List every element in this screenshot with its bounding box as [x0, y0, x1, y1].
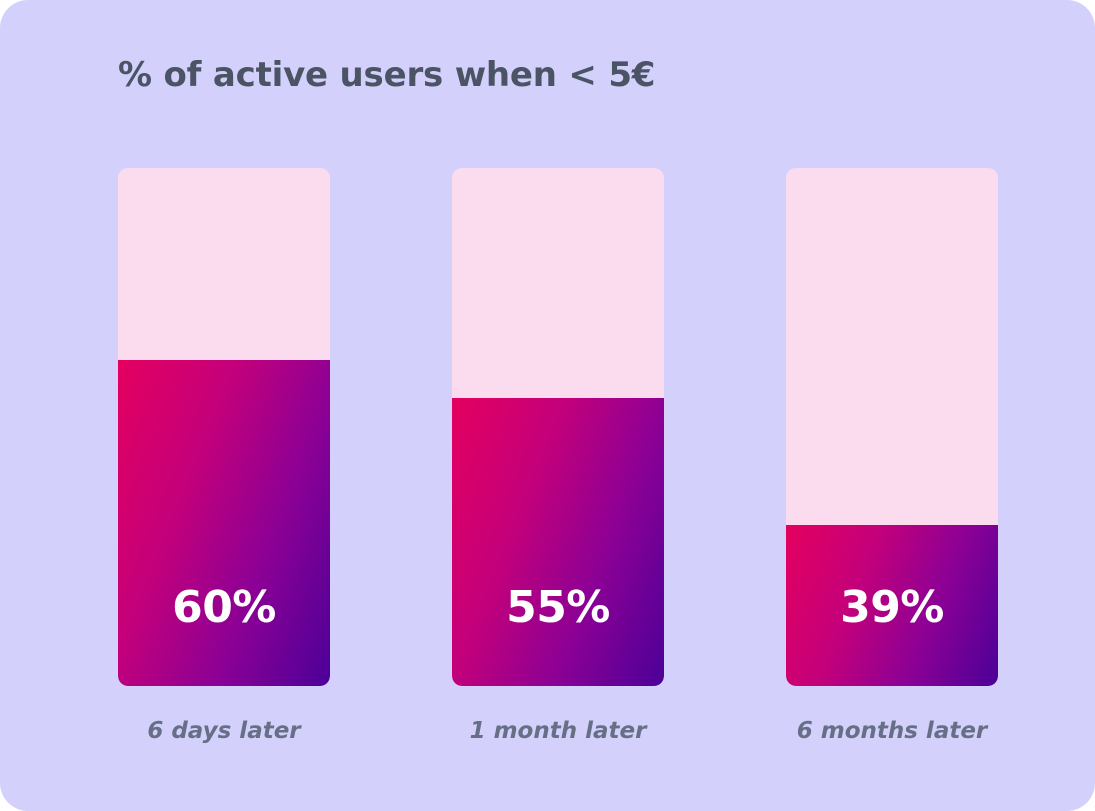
- bar-fill[interactable]: 60%: [118, 360, 330, 686]
- bar-value-label: 60%: [118, 586, 330, 630]
- bar-track: 55%: [452, 168, 664, 686]
- bar-value-label: 39%: [786, 586, 998, 630]
- bar-chart-plot-area: 60% 6 days later 55% 1 month later 39% 6…: [118, 168, 998, 686]
- bar-group-6-months-later: 39% 6 months later: [786, 168, 998, 686]
- bar-track: 39%: [786, 168, 998, 686]
- bar-category-label: 1 month later: [422, 718, 694, 744]
- bar-value-label: 55%: [452, 586, 664, 630]
- bar-category-label: 6 days later: [88, 718, 360, 744]
- bar-fill[interactable]: 39%: [786, 525, 998, 686]
- bar-fill[interactable]: 55%: [452, 398, 664, 686]
- chart-title: % of active users when < 5€: [118, 55, 655, 95]
- bar-track: 60%: [118, 168, 330, 686]
- bar-category-label: 6 months later: [756, 718, 1028, 744]
- bar-group-6-days-later: 60% 6 days later: [118, 168, 330, 686]
- bar-group-1-month-later: 55% 1 month later: [452, 168, 664, 686]
- chart-card: % of active users when < 5€ 60% 6 days l…: [0, 0, 1095, 811]
